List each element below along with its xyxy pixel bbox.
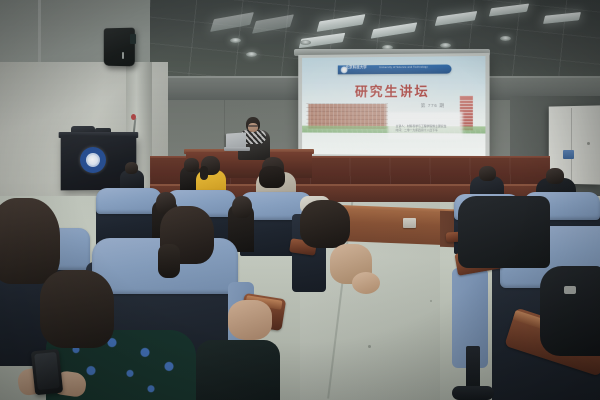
draped-coat (458, 196, 550, 268)
audience-hair-long (259, 166, 285, 188)
floor-mark (430, 300, 432, 302)
ceiling-downlight (230, 38, 241, 43)
draped-coat (540, 266, 600, 356)
ceiling-downlight (300, 40, 311, 45)
foreground-person-hair (0, 198, 60, 284)
audience-hand (352, 272, 380, 294)
cabinet-handle[interactable] (587, 142, 590, 145)
floor-mark (368, 345, 371, 348)
audience-head (184, 158, 199, 172)
lecture-hall-photo: 北京科技大学 University of Science and Technol… (0, 0, 600, 400)
audience-head (232, 196, 252, 218)
cabinet-label-plate (563, 150, 574, 159)
ceiling-downlight (440, 43, 451, 48)
ceiling-downlight (500, 36, 511, 41)
foreground-person-hair (40, 270, 114, 348)
projection-screen[interactable]: 北京科技大学 University of Science and Technol… (302, 56, 485, 156)
wall-outlet[interactable] (403, 218, 416, 228)
audience-ponytail (158, 244, 180, 278)
audience-head (125, 162, 138, 174)
speaker-bracket (130, 34, 136, 44)
cabinet-door-seam (571, 108, 572, 182)
slide-banner-cn-text: 北京科技大学 (346, 67, 367, 71)
ceiling-downlight (246, 52, 257, 57)
laptop-base (224, 147, 250, 151)
microphone-icon (131, 114, 136, 120)
audience-ponytail (200, 166, 208, 180)
smartphone-screen[interactable] (34, 352, 60, 390)
slide-meta-line-2: 时间：二零一九年四月十八日下午 (396, 128, 463, 133)
glasses-icon (248, 125, 258, 127)
speaker-led-strip (122, 52, 124, 59)
audience-head (479, 166, 496, 181)
slide-building-windows (306, 103, 389, 127)
slide-meta-block: 主讲人：材料科学与工程学院博士研究生 时间：二零一九年四月十八日下午 (396, 124, 463, 133)
university-crest-inner (86, 153, 100, 167)
audience-head (300, 200, 350, 248)
slide-issue-number: 第 776 期 (407, 103, 459, 109)
seat-foot-plate (452, 386, 494, 400)
foreground-knee (228, 300, 272, 340)
coat-tag (564, 286, 576, 294)
slide-title: 研究生讲坛 (302, 80, 485, 100)
audience-head (546, 168, 564, 184)
foreground-legs (196, 340, 280, 400)
slide-banner-en-text: University of Science and Technology (379, 67, 428, 70)
